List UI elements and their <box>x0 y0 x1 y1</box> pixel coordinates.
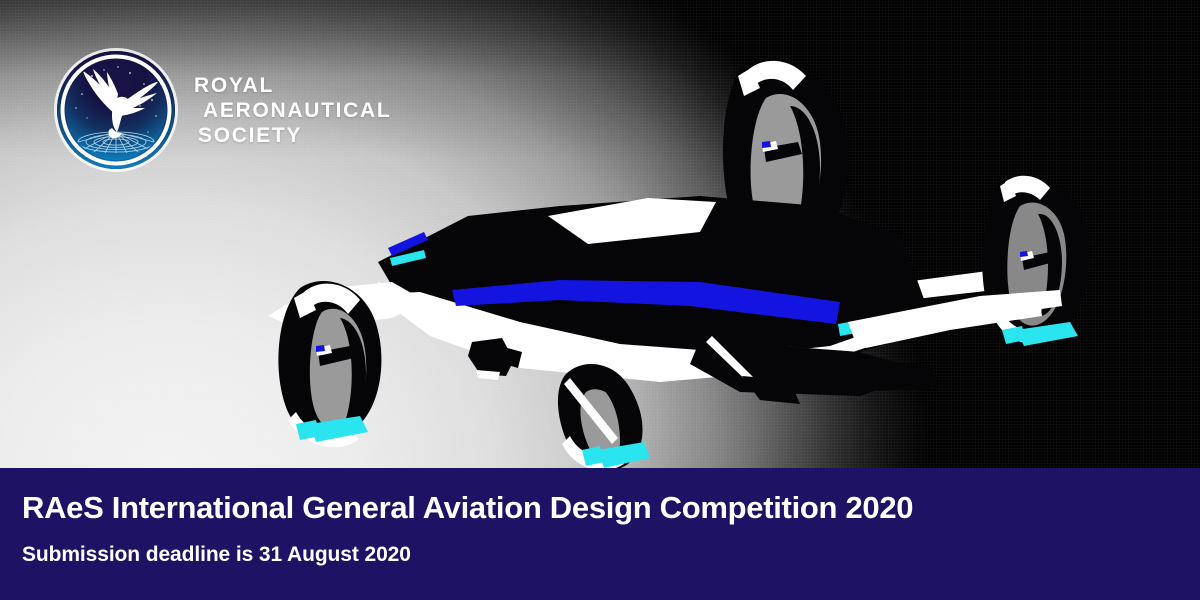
banner-title: RAeS International General Aviation Desi… <box>22 490 913 526</box>
logo-block[interactable]: ROYAL AERONAUTICAL SOCIETY <box>52 46 391 174</box>
footer-banner: RAeS International General Aviation Desi… <box>0 468 1200 600</box>
logo-line-aeronautical: AERONAUTICAL <box>194 98 391 123</box>
logo-line-society: SOCIETY <box>194 123 391 148</box>
banner-subtitle: Submission deadline is 31 August 2020 <box>22 543 411 567</box>
logo-wordmark: ROYAL AERONAUTICAL SOCIETY <box>194 73 391 148</box>
banner-canvas: ROYAL AERONAUTICAL SOCIETY RAeS Internat… <box>0 0 1200 600</box>
logo-line-royal: ROYAL <box>194 73 391 98</box>
ducted-fan-front-left <box>278 281 381 447</box>
ducted-fan-rear-left <box>558 364 650 470</box>
raes-emblem-icon <box>52 46 180 174</box>
